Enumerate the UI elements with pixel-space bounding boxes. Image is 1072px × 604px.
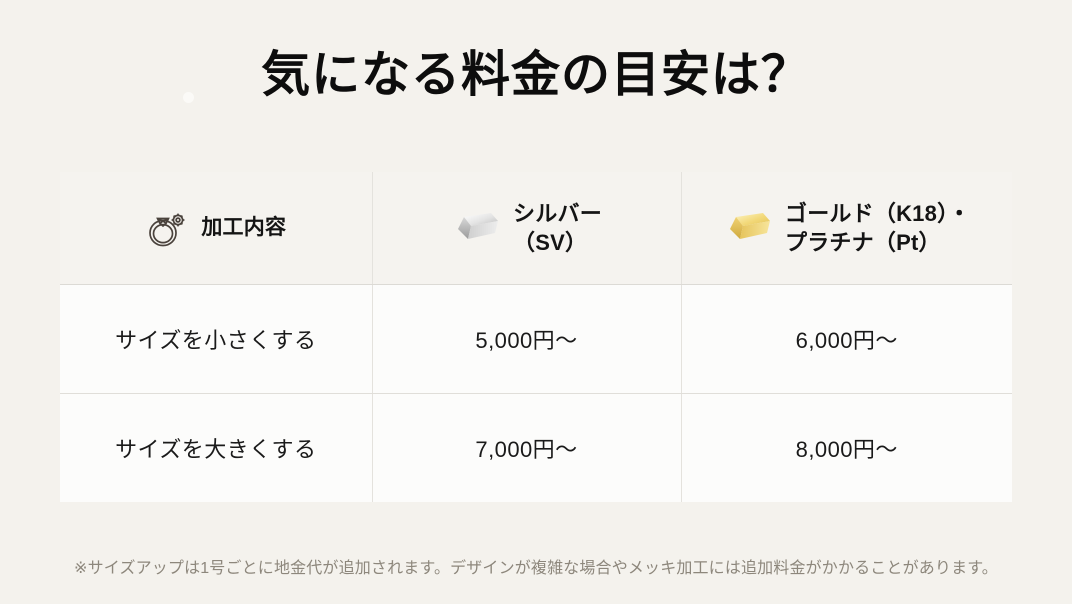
ring-gear-icon (145, 207, 189, 249)
gold-bar-icon (723, 208, 773, 248)
table-row: サイズを大きくする 7,000円〜 8,000円〜 (60, 394, 1012, 503)
column-header-service-label: 加工内容 (201, 214, 286, 242)
row-price-gold: 6,000円〜 (681, 285, 1012, 394)
row-price-silver: 7,000円〜 (372, 394, 681, 503)
column-header-silver-label: シルバー （SV） (513, 199, 602, 257)
row-label: サイズを大きくする (60, 394, 372, 503)
column-header-service: 加工内容 (60, 172, 372, 285)
table-header-row: 加工内容 (60, 172, 1012, 285)
column-header-gold-label: ゴールド（K18）・ プラチナ（Pt） (785, 199, 971, 257)
table-header: 加工内容 (60, 172, 1012, 285)
row-price-silver: 5,000円〜 (372, 285, 681, 394)
page-title: 気になる料金の目安は？ (0, 47, 1072, 104)
row-price-gold: 8,000円〜 (681, 394, 1012, 503)
column-header-gold: ゴールド（K18）・ プラチナ（Pt） (681, 172, 1012, 285)
footnote: ※サイズアップは1号ごとに地金代が追加されます。デザインが複雑な場合やメッキ加工… (0, 558, 1072, 580)
pricing-table: 加工内容 (60, 172, 1012, 502)
table-row: サイズを小さくする 5,000円〜 6,000円〜 (60, 285, 1012, 394)
table-body: サイズを小さくする 5,000円〜 6,000円〜 サイズを大きくする 7,00… (60, 285, 1012, 503)
column-header-silver: シルバー （SV） (372, 172, 681, 285)
silver-bar-icon (451, 208, 501, 248)
row-label: サイズを小さくする (60, 285, 372, 394)
